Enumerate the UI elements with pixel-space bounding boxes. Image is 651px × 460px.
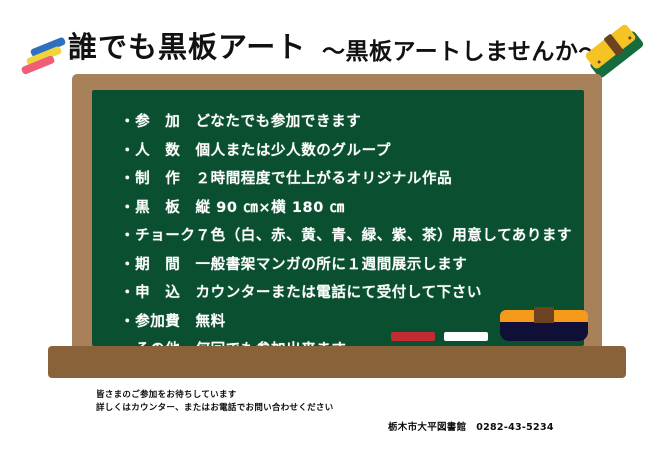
footer-contact: 栃木市大平図書館 0282-43-5234 [388,419,554,433]
list-item: ・期 間 一般書架マンガの所に１週間展示します [120,251,580,280]
list-item: ・制 作 ２時間程度で仕上がるオリジナル作品 [120,165,580,194]
chalk-red-icon [391,332,435,341]
chalk-white-icon [444,332,488,341]
eraser-top-right [551,310,588,322]
board-tray-items [92,302,584,346]
list-item: ・チョーク７色（白、赤、黄、青、緑、紫、茶）用意してあります [120,222,580,251]
page-subtitle: 〜黒板アートしませんか〜 [322,32,602,66]
eraser-stud [628,36,632,40]
list-item: ・参 加 どなたでも参加できます [120,108,580,137]
footer-note-line: 皆さまのご参加をお待ちしています [96,389,516,402]
list-item: ・人 数 個人または少人数のグループ [120,137,580,166]
page-title: 誰でも黒板アート [68,24,306,66]
eraser-top-left [500,310,537,322]
footer-note: 皆さまのご参加をお待ちしています 詳しくはカウンター、またはお電話でお問い合わせ… [96,389,516,415]
list-item: ・黒 板 縦 90 ㎝×横 180 ㎝ [120,194,580,223]
footer-note-line: 詳しくはカウンター、またはお電話でお問い合わせください [96,402,516,415]
eraser-icon-shape [583,22,646,80]
board-eraser-icon [500,310,588,341]
eraser-stud [597,60,601,64]
blackboard-surface: ・参 加 どなたでも参加できます ・人 数 個人または少人数のグループ ・制 作… [92,90,584,346]
blackboard-ledge [48,346,626,378]
poster-header: 誰でも黒板アート 〜黒板アートしませんか〜 [0,18,651,80]
eraser-band [534,307,554,323]
blackboard-frame: ・参 加 どなたでも参加できます ・人 数 個人または少人数のグループ ・制 作… [72,74,602,346]
